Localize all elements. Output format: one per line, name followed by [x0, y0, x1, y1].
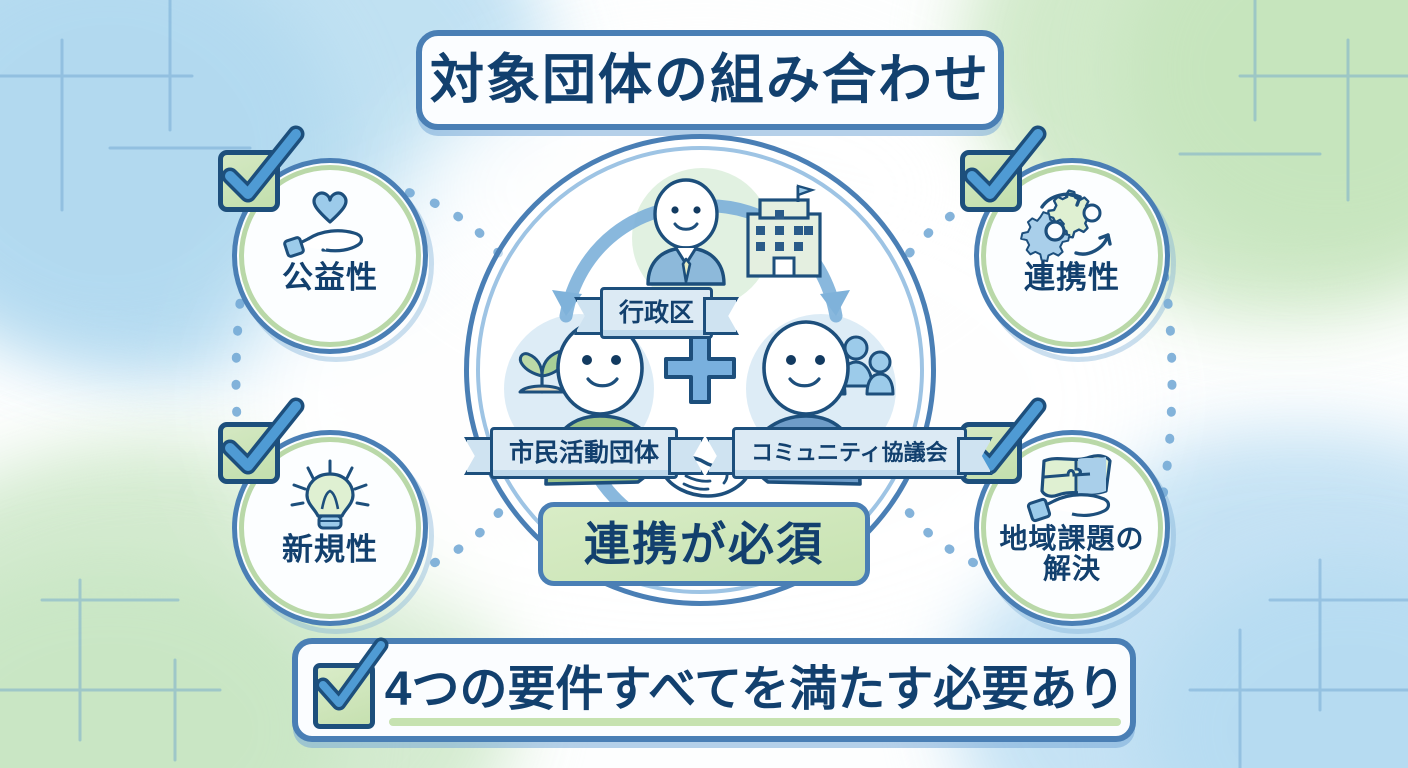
bottom-banner-text: 4つの要件すべてを満たす必要あり [385, 663, 1125, 716]
ribbon-community-kyogikai: コミュニティ協議会 [732, 430, 967, 476]
feature-label-line2: 解決 [974, 554, 1170, 584]
ribbon-label: 市民活動団体 [509, 441, 659, 466]
bottom-banner-text-wrap: 4つの要件すべてを満たす必要あり [385, 666, 1125, 714]
ribbon-shimin-katsudo-dantai: 市民活動団体 [490, 430, 678, 476]
check-mark-icon [956, 128, 1046, 216]
check-mark-icon [214, 400, 304, 488]
badge-label: 連携が必須 [584, 521, 824, 567]
check-mark-icon [214, 128, 304, 216]
feature-label: 公益性 [232, 262, 428, 295]
feature-item-chiiki-kadai[interactable]: 地域課題の 解決 [974, 430, 1170, 626]
renkei-hissu-badge: 連携が必須 [538, 502, 870, 586]
text-underline [389, 718, 1121, 726]
bottom-requirement-banner: 4つの要件すべてを満たす必要あり [292, 638, 1136, 742]
center-collaboration-diagram: 行政区 市民活動団体 コミュニティ協議会 連携が必須 [460, 130, 940, 610]
feature-item-renkeisei[interactable]: 連携性 [974, 158, 1170, 354]
checkbox-checked-icon[interactable] [218, 422, 280, 484]
ribbon-body: 行政区 [600, 287, 713, 339]
ribbon-label: コミュニティ協議会 [751, 442, 948, 464]
infographic-canvas: 対象団体の組み合わせ 公益性 [0, 0, 1408, 768]
ribbon-body: 市民活動団体 [490, 427, 678, 479]
ribbon-body: コミュニティ協議会 [732, 427, 967, 479]
feature-label: 新規性 [232, 534, 428, 567]
ribbon-gyoseiku: 行政区 [600, 290, 713, 336]
feature-label: 地域課題の 解決 [974, 524, 1170, 583]
check-mark-icon [309, 641, 389, 721]
feature-label-line1: 地域課題の [974, 524, 1170, 554]
checkbox-checked-icon[interactable] [960, 150, 1022, 212]
ribbon-label: 行政区 [619, 301, 694, 326]
checkbox-checked-icon[interactable] [218, 150, 280, 212]
feature-item-koekisei[interactable]: 公益性 [232, 158, 428, 354]
checkbox-checked-icon[interactable] [311, 659, 369, 721]
feature-label: 連携性 [974, 262, 1170, 295]
feature-item-shinkisei[interactable]: 新規性 [232, 430, 428, 626]
handshake-icon [488, 316, 912, 516]
